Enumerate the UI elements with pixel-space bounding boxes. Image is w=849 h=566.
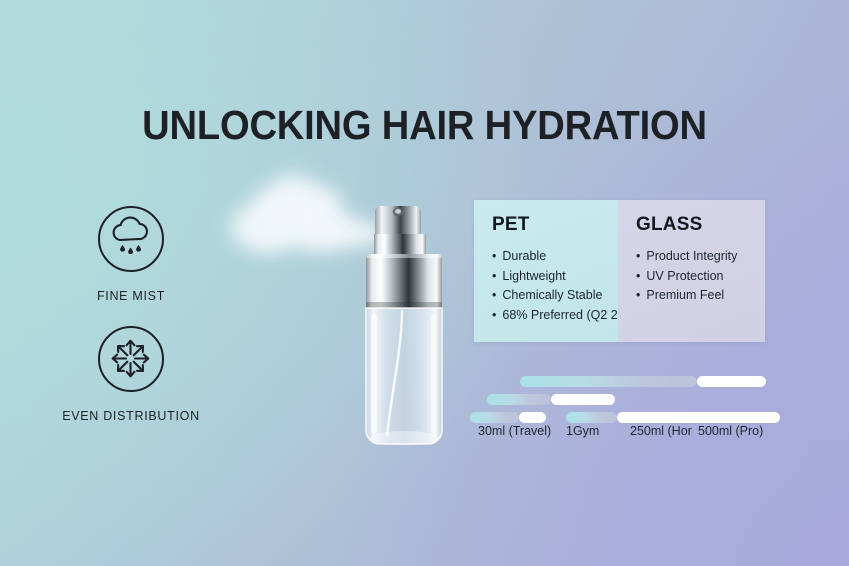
bar-track [551, 394, 615, 405]
bar-track [519, 412, 546, 423]
size-bar-chart: 30ml (Travel) 1Gym 250ml (Hor 500ml (Pro… [470, 376, 780, 446]
infographic-canvas: UNLOCKING HAIR HYDRATION FINE MIST [0, 0, 849, 566]
list-item: Product Integrity [636, 247, 765, 267]
bar-fill [487, 394, 551, 405]
list-item: Chemically Stable [492, 286, 618, 306]
bar-row [470, 394, 780, 405]
feature-even-distribution: EVEN DISTRIBUTION [46, 326, 216, 423]
page-title: UNLOCKING HAIR HYDRATION [30, 102, 820, 148]
radial-arrows-icon [98, 326, 164, 392]
list-item: UV Protection [636, 267, 765, 287]
list-item: Lightweight [492, 267, 618, 287]
bar-chart-labels: 30ml (Travel) 1Gym 250ml (Hor 500ml (Pro… [470, 424, 780, 444]
bar-row [470, 376, 780, 387]
bar [520, 376, 766, 387]
material-comparison-panel: PET Durable Lightweight Chemically Stabl… [474, 200, 765, 342]
bar [566, 412, 780, 423]
feature-label: EVEN DISTRIBUTION [46, 409, 216, 423]
bar-label: 30ml (Travel) [478, 424, 551, 438]
bar-fill [470, 412, 519, 423]
bar-track [617, 412, 780, 423]
bar-fill [520, 376, 697, 387]
pet-heading: PET [492, 214, 618, 236]
bar-label: 1Gym [566, 424, 599, 438]
list-item: Premium Feel [636, 286, 765, 306]
bar-label: 500ml (Pro) [698, 424, 763, 438]
bar-row [470, 412, 780, 423]
spray-bottle-image [352, 198, 456, 458]
pet-bullet-list: Durable Lightweight Chemically Stable 68… [492, 247, 618, 325]
bar [487, 394, 615, 405]
feature-fine-mist: FINE MIST [46, 206, 216, 303]
feature-label: FINE MIST [46, 289, 216, 303]
cloud-rain-icon [98, 206, 164, 272]
bar-fill [566, 412, 617, 423]
bar-label: 250ml (Hor [630, 424, 692, 438]
product-visual [200, 160, 480, 460]
list-item: Durable [492, 247, 618, 267]
list-item: 68% Preferred (Q2 2024) [492, 306, 618, 326]
comparison-column-glass: GLASS Product Integrity UV Protection Pr… [618, 200, 765, 342]
bar [470, 412, 546, 423]
comparison-column-pet: PET Durable Lightweight Chemically Stabl… [474, 200, 618, 342]
bar-track [697, 376, 766, 387]
glass-bullet-list: Product Integrity UV Protection Premium … [636, 247, 765, 306]
glass-heading: GLASS [636, 214, 765, 236]
